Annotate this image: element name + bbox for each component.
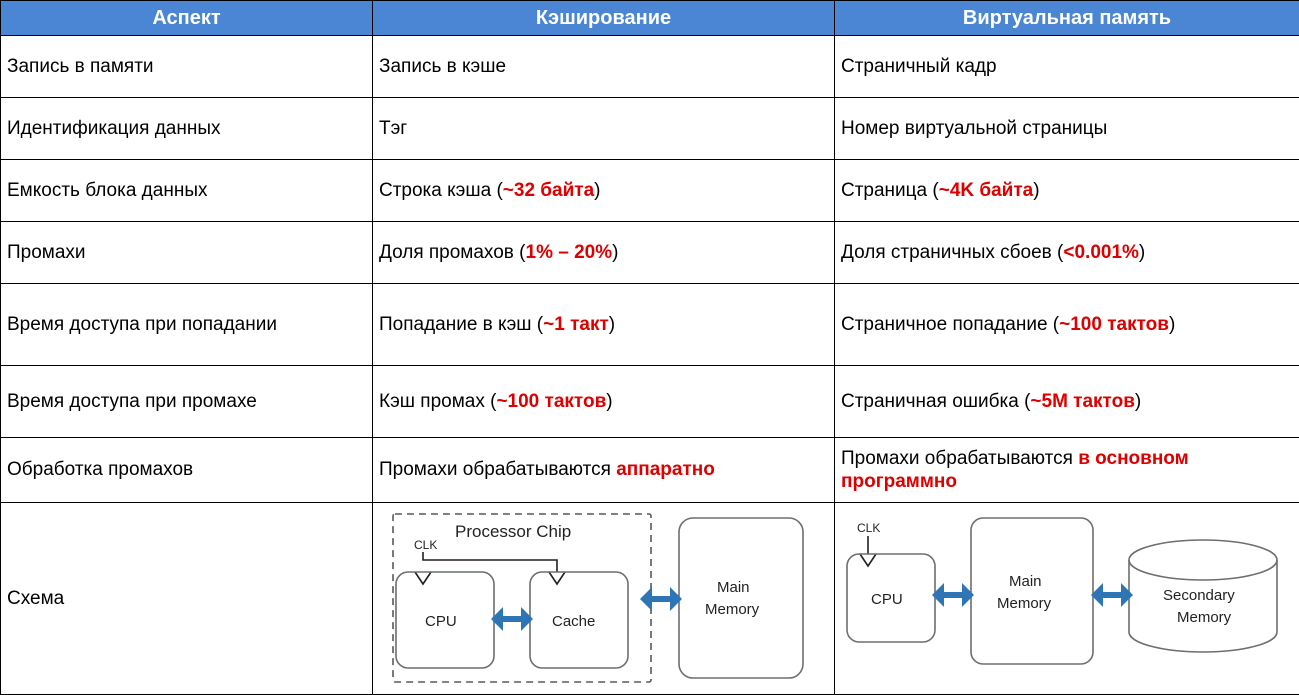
table-row: Время доступа при промахе Кэш промах (~1…: [1, 366, 1299, 438]
cell-aspect: Идентификация данных: [1, 98, 373, 160]
highlight-value: 1% – 20%: [526, 242, 613, 263]
cell-virtual-memory: Номер виртуальной страницы: [835, 98, 1299, 160]
text-post: ): [606, 391, 612, 412]
cell-virtual-memory: Страничное попадание (~100 тактов): [835, 284, 1299, 366]
table-row: Идентификация данных Тэг Номер виртуальн…: [1, 98, 1299, 160]
text-post: ): [1139, 242, 1145, 263]
table-row: Запись в памяти Запись в кэше Страничный…: [1, 36, 1299, 98]
cell-virtual-memory: Доля страничных сбоев (<0.001%): [835, 222, 1299, 284]
cell-aspect: Схема: [1, 503, 373, 695]
cell-aspect: Время доступа при промахе: [1, 366, 373, 438]
text-post: ): [1135, 391, 1141, 412]
highlight-value: ~100 тактов: [1059, 314, 1169, 335]
text-post: ): [1033, 180, 1039, 201]
cell-virtual-memory: Промахи обрабатываются в основном програ…: [835, 438, 1299, 503]
table-row: Время доступа при попадании Попадание в …: [1, 284, 1299, 366]
cell-caching-diagram: Processor Chip CLK CPU Cache: [373, 503, 835, 695]
highlight-value: ~4K байта: [939, 180, 1034, 201]
clk-triangle-cpu-icon: [860, 554, 876, 566]
caching-diagram-svg: Processor Chip CLK CPU Cache: [379, 504, 837, 692]
virtual-memory-architecture-diagram: CLK CPU Main Memory: [841, 504, 1293, 694]
highlight-value: ~32 байта: [503, 180, 594, 201]
table-row-diagram: Схема Processor Chip CLK CPU Cache: [1, 503, 1299, 695]
text-pre: Страничное попадание (: [841, 314, 1059, 335]
column-header-virtual-memory: Виртуальная память: [835, 1, 1299, 36]
highlight-value: ~100 тактов: [496, 391, 606, 412]
secondary-memory-label-line2: Memory: [1177, 609, 1232, 626]
main-memory-block: [679, 518, 803, 678]
secondary-memory-label-line1: Secondary: [1163, 587, 1235, 604]
clock-wire: [423, 552, 557, 572]
comparison-table: Аспект Кэширование Виртуальная память За…: [0, 0, 1299, 695]
cpu-label: CPU: [871, 591, 903, 608]
column-header-aspect: Аспект: [1, 1, 373, 36]
header-row: Аспект Кэширование Виртуальная память: [1, 1, 1299, 36]
text-pre: Запись в кэше: [379, 56, 506, 77]
cell-caching: Промахи обрабатываются аппаратно: [373, 438, 835, 503]
main-memory-label-line1: Main: [1009, 573, 1042, 590]
arrow-cpu-main-memory-icon: [932, 583, 974, 607]
main-memory-block: [971, 518, 1093, 664]
cell-virtual-memory: Страничный кадр: [835, 36, 1299, 98]
arrow-main-secondary-memory-icon: [1091, 583, 1133, 607]
text-pre: Страничная ошибка (: [841, 391, 1030, 412]
cache-label: Cache: [552, 613, 595, 630]
cpu-label: CPU: [425, 613, 457, 630]
arrow-cpu-cache-icon: [491, 607, 533, 631]
text-pre: Доля промахов (: [379, 242, 526, 263]
clk-triangle-cpu-icon: [415, 572, 431, 584]
text-pre: Промахи обрабатываются: [841, 448, 1078, 469]
caching-architecture-diagram: Processor Chip CLK CPU Cache: [379, 504, 828, 694]
highlight-value: ~1 такт: [543, 314, 609, 335]
cell-caching: Строка кэша (~32 байта): [373, 160, 835, 222]
table-row: Емкость блока данных Строка кэша (~32 ба…: [1, 160, 1299, 222]
text-pre: Промахи обрабатываются: [379, 459, 616, 480]
cell-aspect: Промахи: [1, 222, 373, 284]
clk-label: CLK: [857, 521, 880, 535]
text-post: ): [612, 242, 618, 263]
cell-caching: Кэш промах (~100 тактов): [373, 366, 835, 438]
table-body: Запись в памяти Запись в кэше Страничный…: [1, 36, 1299, 695]
processor-chip-label: Processor Chip: [455, 522, 571, 541]
clk-triangle-cache-icon: [549, 572, 565, 584]
clk-label: CLK: [414, 538, 437, 552]
main-memory-label-line2: Memory: [997, 595, 1052, 612]
highlight-value: <0.001%: [1063, 242, 1139, 263]
cell-caching: Тэг: [373, 98, 835, 160]
text-pre: Строка кэша (: [379, 180, 503, 201]
main-memory-label-line2: Memory: [705, 601, 760, 618]
text-post: ): [609, 314, 615, 335]
main-memory-label-line1: Main: [717, 579, 750, 596]
text-pre: Номер виртуальной страницы: [841, 118, 1107, 139]
virtual-memory-diagram-svg: CLK CPU Main Memory: [841, 504, 1293, 692]
table-header: Аспект Кэширование Виртуальная память: [1, 1, 1299, 36]
text-post: ): [1169, 314, 1175, 335]
arrow-cache-main-memory-icon: [640, 587, 682, 611]
text-pre: Страничный кадр: [841, 56, 997, 77]
cell-virtual-memory: Страничная ошибка (~5M тактов): [835, 366, 1299, 438]
text-pre: Страница (: [841, 180, 939, 201]
text-pre: Тэг: [379, 118, 407, 139]
text-pre: Кэш промах (: [379, 391, 496, 412]
cell-virtual-memory: Страница (~4K байта): [835, 160, 1299, 222]
text-pre: Попадание в кэш (: [379, 314, 543, 335]
cell-aspect: Обработка промахов: [1, 438, 373, 503]
cell-caching: Доля промахов (1% – 20%): [373, 222, 835, 284]
cell-aspect: Емкость блока данных: [1, 160, 373, 222]
table-row: Промахи Доля промахов (1% – 20%) Доля ст…: [1, 222, 1299, 284]
column-header-caching: Кэширование: [373, 1, 835, 36]
cell-aspect: Время доступа при попадании: [1, 284, 373, 366]
highlight-value: ~5M тактов: [1030, 391, 1135, 412]
text-post: ): [594, 180, 600, 201]
highlight-value: аппаратно: [616, 459, 715, 480]
cell-caching: Попадание в кэш (~1 такт): [373, 284, 835, 366]
text-pre: Доля страничных сбоев (: [841, 242, 1063, 263]
cell-virtual-memory-diagram: CLK CPU Main Memory: [835, 503, 1299, 695]
cell-caching: Запись в кэше: [373, 36, 835, 98]
cell-aspect: Запись в памяти: [1, 36, 373, 98]
table-row: Обработка промахов Промахи обрабатываютс…: [1, 438, 1299, 503]
